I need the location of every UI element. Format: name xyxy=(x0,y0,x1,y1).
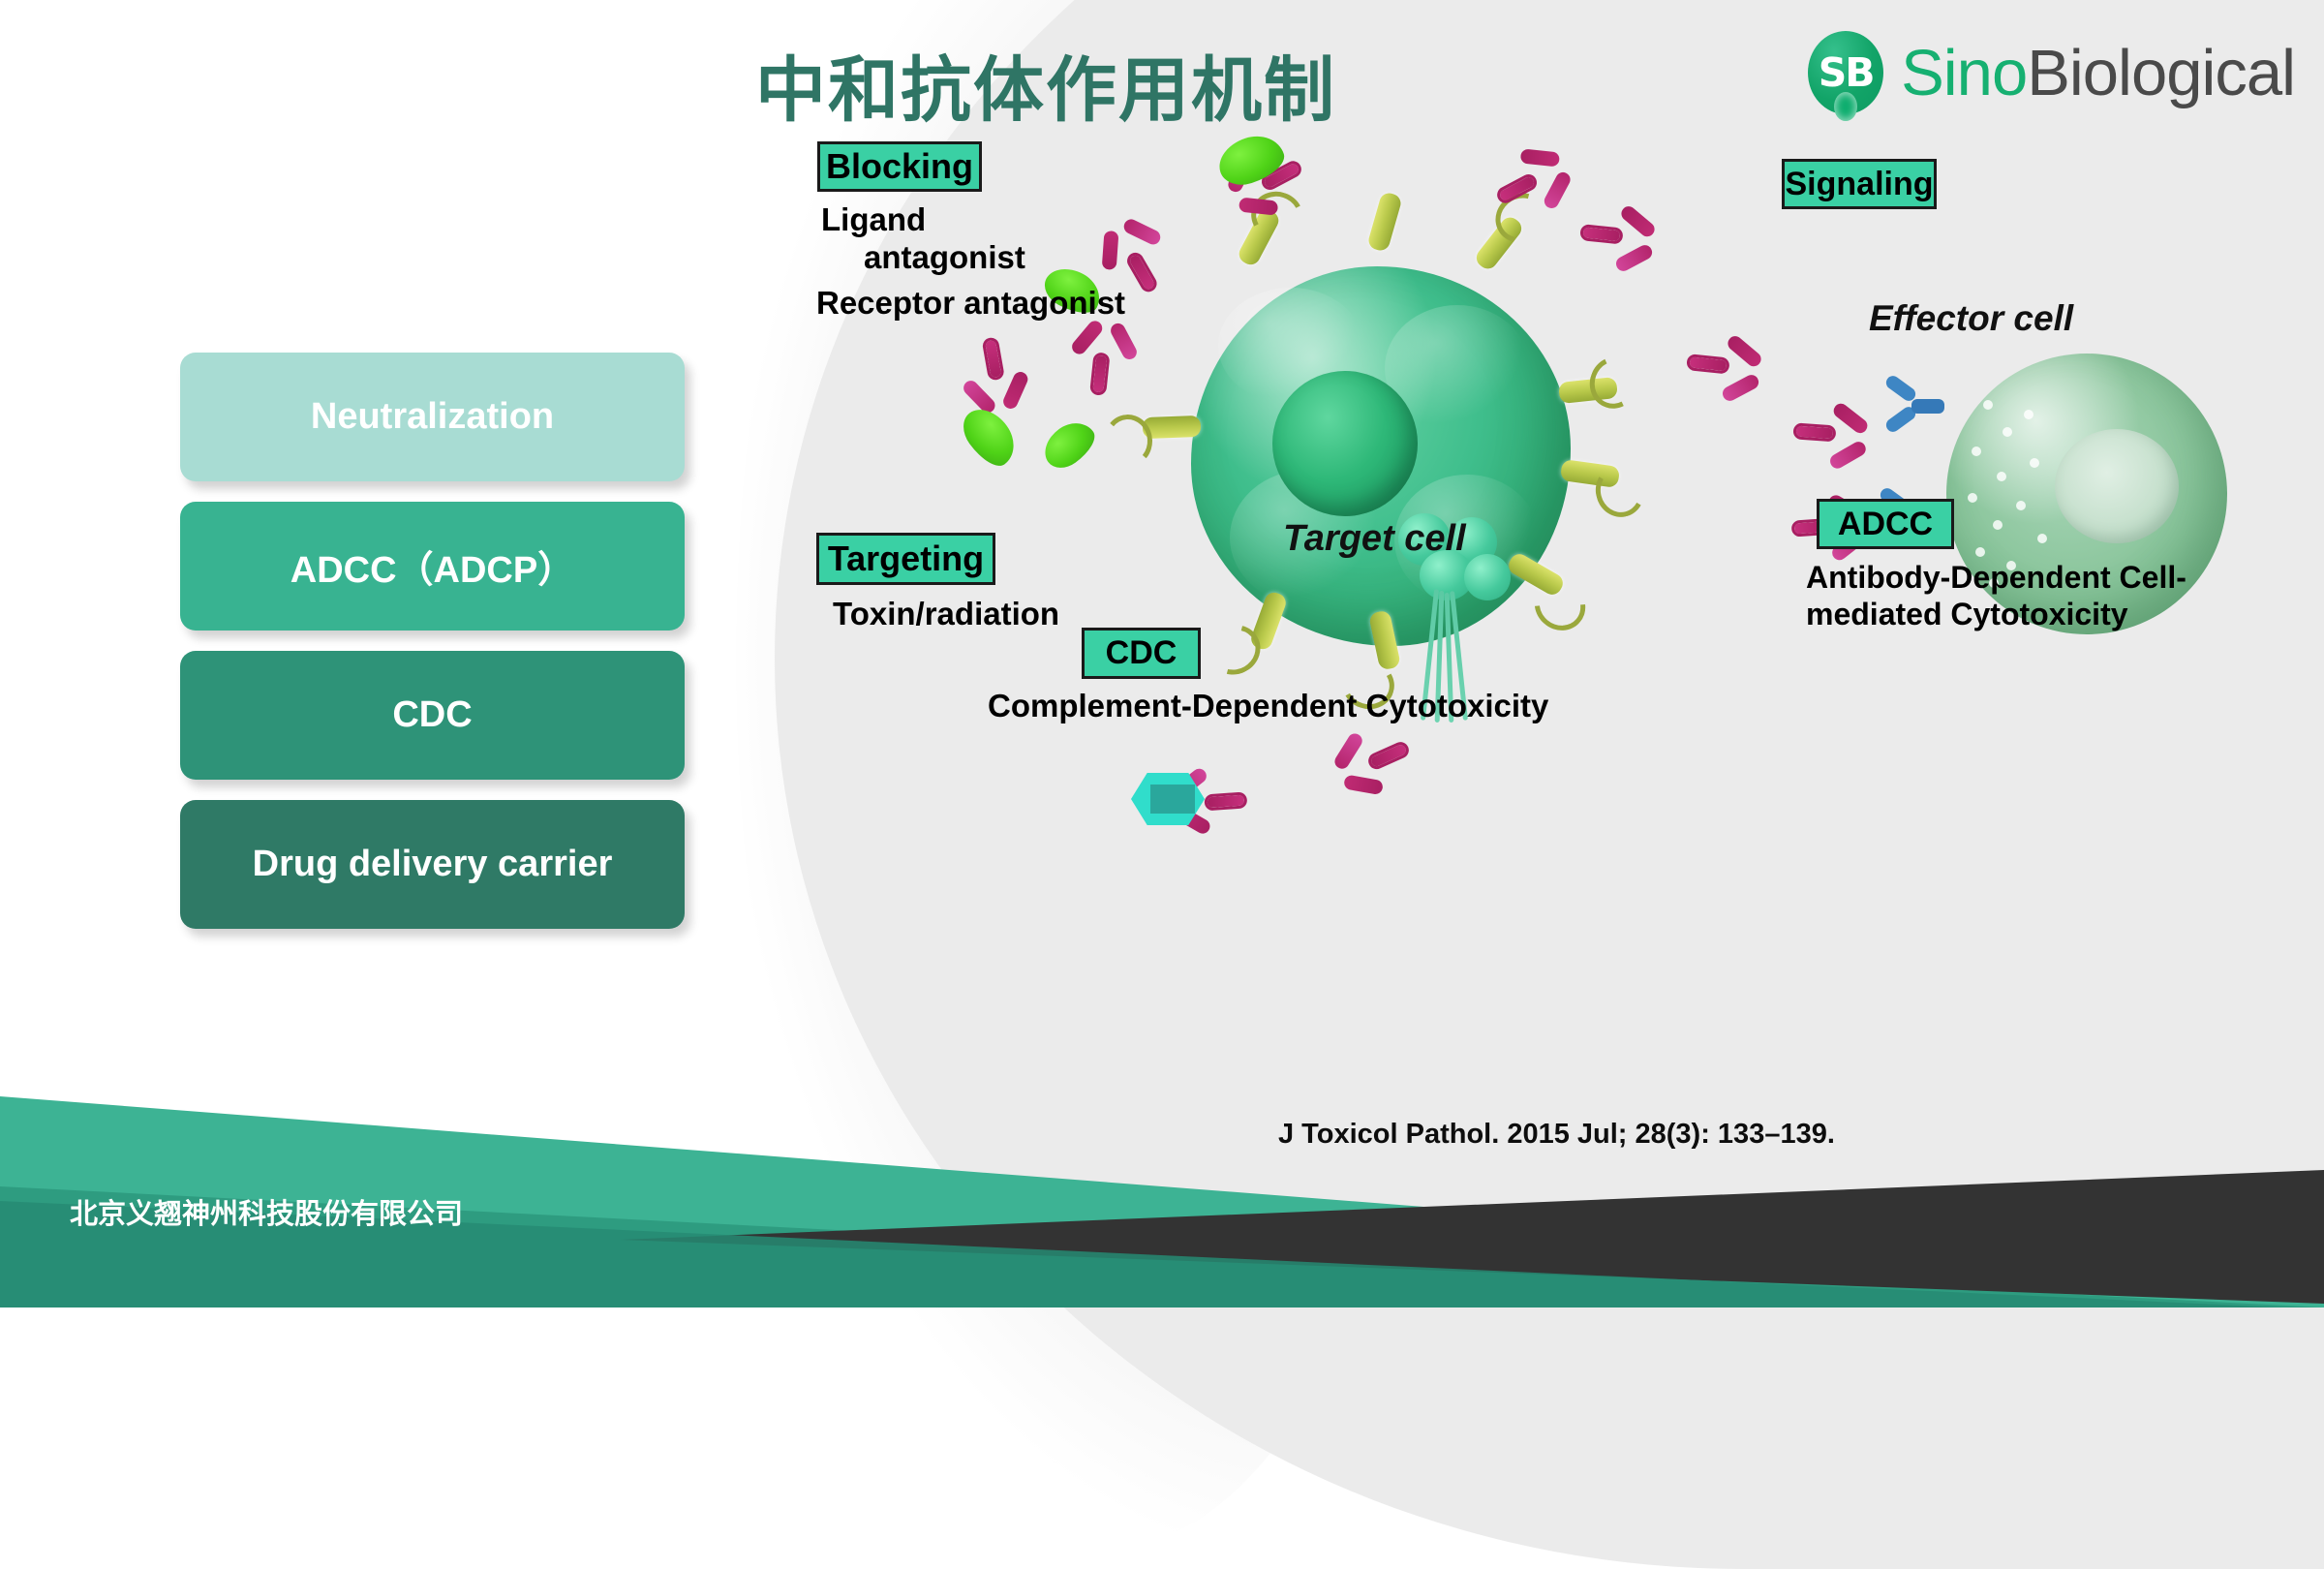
antibody-icon xyxy=(1478,128,1582,232)
callout-targeting: Targeting xyxy=(816,533,995,585)
callout-blocking: Blocking xyxy=(817,141,982,192)
ligand-icon xyxy=(1036,414,1102,476)
callout-signaling: Signaling xyxy=(1782,159,1937,209)
receptor-stalk xyxy=(1366,191,1403,253)
callout-cdc: CDC xyxy=(1082,628,1201,679)
mechanism-menu: Neutralization ADCC（ADCP） CDC Drug deliv… xyxy=(180,353,685,949)
menu-item-label: Neutralization xyxy=(311,396,554,438)
label-ligand-line1: Ligand xyxy=(821,201,926,237)
logo-word-sino: Sino xyxy=(1901,36,2027,110)
menu-item-cdc[interactable]: CDC xyxy=(180,651,685,780)
label-target-cell: Target cell xyxy=(1283,518,1466,560)
toxin-core-icon xyxy=(1150,784,1195,814)
antibody-mechanism-diagram: Blocking Ligand antagonist Receptor anta… xyxy=(813,126,2324,1172)
label-adcc-line1: Antibody-Dependent Cell- xyxy=(1806,560,2186,595)
menu-item-label: CDC xyxy=(392,694,472,736)
menu-item-neutralization[interactable]: Neutralization xyxy=(180,353,685,481)
antibody-icon xyxy=(1057,316,1143,401)
menu-item-label: ADCC（ADCP） xyxy=(290,539,574,593)
label-receptor-antagonist: Receptor antagonist xyxy=(816,285,1125,323)
antibody-icon xyxy=(1575,192,1660,277)
footer-company-name: 北京义翘神州科技股份有限公司 xyxy=(70,1191,463,1232)
sino-biological-logo: SB Sino Biological xyxy=(1808,31,2295,114)
label-cdc-full: Complement-Dependent Cytotoxicity xyxy=(988,688,1548,725)
effector-cell-nucleus xyxy=(2055,429,2179,543)
logo-droplet-icon xyxy=(1834,92,1857,121)
fc-receptor-icon xyxy=(1882,380,1952,436)
logo-word-biological: Biological xyxy=(2027,36,2295,110)
page-title: 中和抗体作用机制 xyxy=(755,33,1336,136)
label-ligand-line2: antagonist xyxy=(864,239,1025,277)
label-effector-cell: Effector cell xyxy=(1869,298,2073,339)
receptor-tail xyxy=(1582,350,1645,415)
antibody-icon xyxy=(1681,322,1766,407)
label-toxin-radiation: Toxin/radiation xyxy=(833,596,1059,633)
menu-item-drug-delivery-carrier[interactable]: Drug delivery carrier xyxy=(180,800,685,929)
antibody-icon xyxy=(1324,712,1426,815)
antibody-icon xyxy=(1789,390,1871,473)
label-adcc-full: Antibody-Dependent Cell- mediated Cytoto… xyxy=(1806,560,2186,633)
target-cell-nucleus xyxy=(1272,371,1418,516)
sb-logo-mark-icon: SB xyxy=(1808,31,1883,114)
label-ligand-antagonist: Ligand antagonist xyxy=(821,201,1025,277)
menu-item-adcc-adcp[interactable]: ADCC（ADCP） xyxy=(180,502,685,631)
antibody-icon xyxy=(953,329,1043,419)
callout-adcc: ADCC xyxy=(1817,499,1954,549)
label-adcc-line2: mediated Cytotoxicity xyxy=(1806,597,2128,631)
footer-shapes-svg xyxy=(0,1056,2324,1307)
footer-decoration: 北京义翘神州科技股份有限公司 xyxy=(0,1056,2324,1307)
menu-item-label: Drug delivery carrier xyxy=(253,844,613,885)
